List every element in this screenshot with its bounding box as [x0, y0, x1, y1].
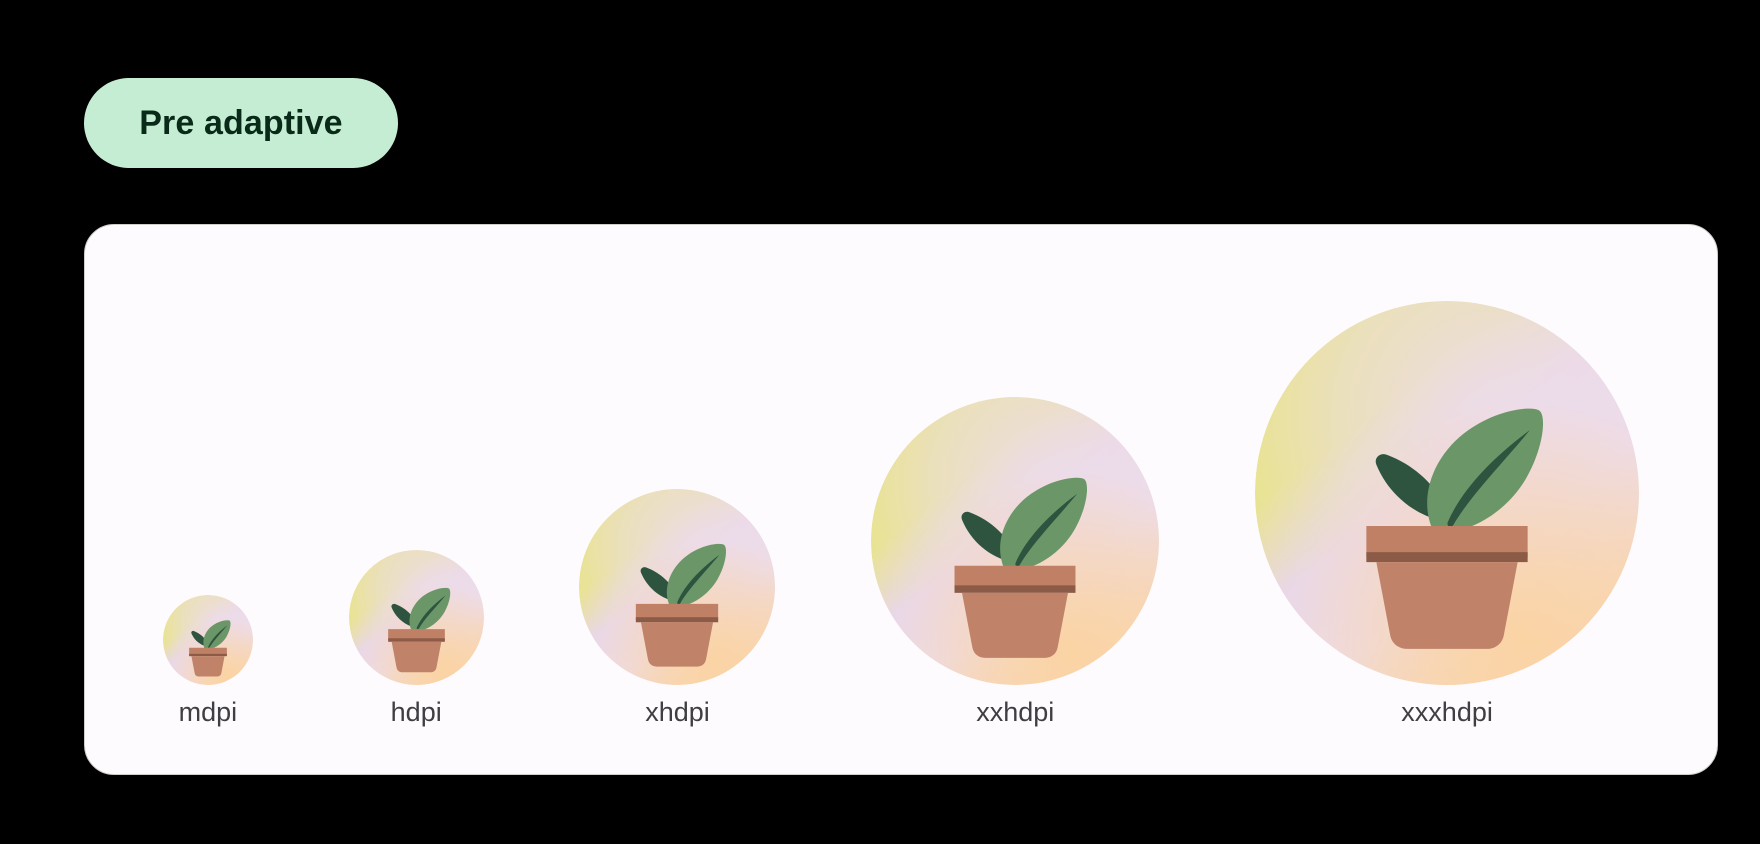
density-row: mdpi hdpi: [85, 225, 1717, 774]
pot-rim-shadow: [189, 654, 227, 656]
density-label: xhdpi: [645, 699, 710, 726]
density-item: xhdpi: [579, 489, 775, 726]
density-label: mdpi: [179, 699, 238, 726]
potted-plant-icon: [349, 550, 484, 685]
pot-body: [391, 642, 441, 673]
density-label: xxxhdpi: [1401, 699, 1493, 726]
density-label: xxhdpi: [976, 699, 1054, 726]
pot-rim-shadow: [955, 585, 1076, 592]
pot-body: [1376, 562, 1517, 649]
status-badge-label: Pre adaptive: [139, 106, 342, 140]
potted-plant-icon: [579, 489, 775, 685]
icon-wrap: [871, 397, 1159, 685]
status-badge: Pre adaptive: [84, 78, 398, 168]
pot-rim-shadow: [636, 617, 718, 622]
density-item: mdpi: [163, 595, 253, 726]
density-item: xxxhdpi: [1255, 301, 1639, 726]
potted-plant-icon: [1255, 301, 1639, 685]
potted-plant-icon: [163, 595, 253, 685]
screen-root: Pre adaptive: [0, 0, 1760, 844]
pot-body: [641, 622, 713, 666]
icon-wrap: [163, 595, 253, 685]
density-item: xxhdpi: [871, 397, 1159, 726]
pot-body: [191, 656, 224, 676]
icon-wrap: [1255, 301, 1639, 685]
density-showcase-card: mdpi hdpi: [84, 224, 1718, 775]
icon-wrap: [349, 550, 484, 685]
pot-rim-shadow: [1366, 552, 1527, 562]
potted-plant-icon: [871, 397, 1159, 685]
density-item: hdpi: [349, 550, 484, 726]
pot-body: [962, 593, 1068, 658]
icon-wrap: [579, 489, 775, 685]
density-label: hdpi: [391, 699, 442, 726]
pot-rim-shadow: [388, 638, 445, 642]
